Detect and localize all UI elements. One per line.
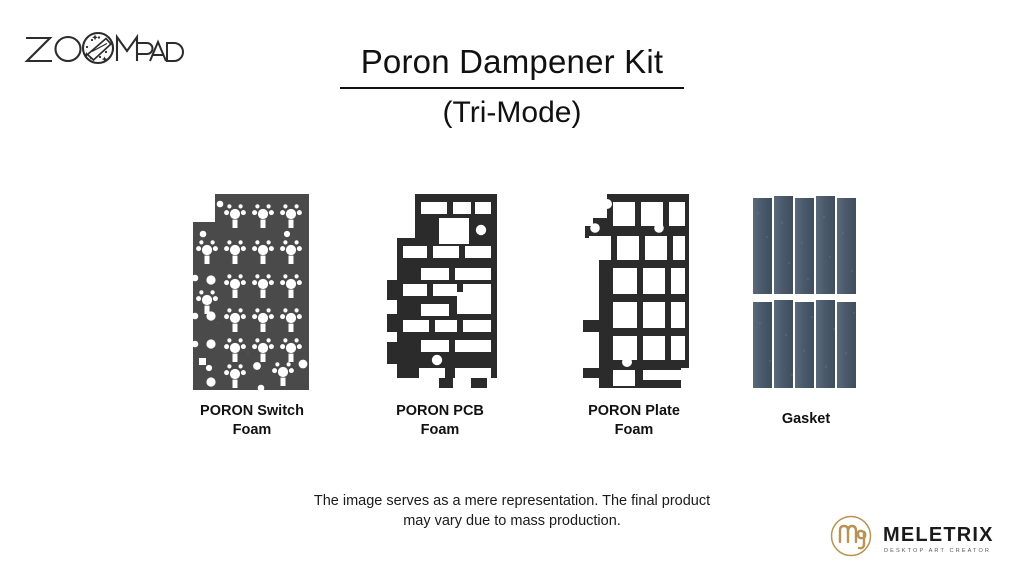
plate-foam-icon — [569, 192, 699, 392]
switch-foam-figure — [152, 192, 352, 392]
switch-foam-icon — [187, 192, 317, 392]
meletrix-tagline: DESKTOP ART CREATOR — [884, 548, 991, 554]
meletrix-monogram-icon — [832, 517, 871, 556]
label-line-1: Gasket — [706, 410, 906, 429]
meletrix-wordmark: MELETRIX — [883, 524, 994, 546]
product-plate-foam: PORON Plate Foam — [534, 192, 734, 452]
label-line-2: Foam — [152, 421, 352, 440]
product-label-switch-foam: PORON Switch Foam — [152, 402, 352, 439]
product-pcb-foam: PORON PCB Foam — [340, 192, 540, 452]
page-title: Poron Dampener Kit — [0, 44, 1024, 81]
product-gasket: Gasket — [706, 192, 906, 452]
title-divider — [340, 87, 684, 89]
product-label-plate-foam: PORON Plate Foam — [534, 402, 734, 439]
label-line-1: PORON Switch — [152, 402, 352, 421]
product-label-pcb-foam: PORON PCB Foam — [340, 402, 540, 439]
label-line-2: Foam — [340, 421, 540, 440]
gasket-icon — [741, 192, 871, 392]
pcb-foam-icon — [375, 192, 505, 392]
label-line-1: PORON Plate — [534, 402, 734, 421]
label-line-2: Foam — [534, 421, 734, 440]
product-label-gasket: Gasket — [706, 410, 906, 429]
plate-foam-figure — [534, 192, 734, 392]
title-block: Poron Dampener Kit (Tri-Mode) — [0, 44, 1024, 130]
gasket-figure — [706, 192, 906, 392]
pcb-foam-figure — [340, 192, 540, 392]
page-subtitle: (Tri-Mode) — [0, 96, 1024, 131]
product-switch-foam: PORON Switch Foam — [152, 192, 352, 452]
meletrix-logo: MELETRIX DESKTOP ART CREATOR — [826, 508, 1002, 564]
label-line-1: PORON PCB — [340, 402, 540, 421]
product-row: PORON Switch Foam — [0, 192, 1024, 452]
